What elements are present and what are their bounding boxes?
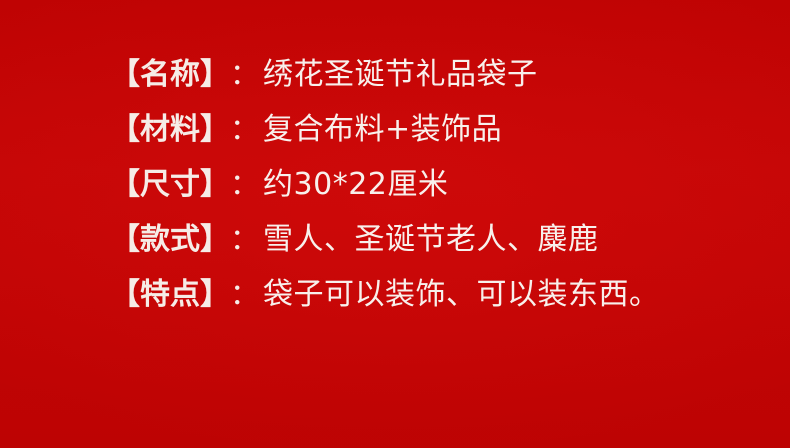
spec-row-material: 【材料】 ： 复合布料+装饰品 [110, 102, 750, 157]
spec-separator: ： [230, 102, 259, 157]
spec-separator: ： [230, 157, 259, 212]
spec-label: 【款式】 [110, 212, 230, 267]
product-spec-banner: 【名称】 ： 绣花圣诞节礼品袋子 【材料】 ： 复合布料+装饰品 【尺寸】 ： … [0, 0, 790, 448]
spec-value: 约30*22厘米 [263, 157, 448, 212]
spec-list: 【名称】 ： 绣花圣诞节礼品袋子 【材料】 ： 复合布料+装饰品 【尺寸】 ： … [110, 47, 750, 322]
spec-value: 袋子可以装饰、可以装东西。 [263, 267, 660, 322]
spec-label: 【特点】 [110, 267, 230, 322]
spec-value: 绣花圣诞节礼品袋子 [263, 47, 538, 102]
spec-label: 【名称】 [110, 47, 230, 102]
spec-row-feature: 【特点】 ： 袋子可以装饰、可以装东西。 [110, 267, 750, 322]
spec-row-style: 【款式】 ： 雪人、圣诞节老人、麋鹿 [110, 212, 750, 267]
spec-value: 雪人、圣诞节老人、麋鹿 [263, 212, 599, 267]
spec-label: 【尺寸】 [110, 157, 230, 212]
spec-label: 【材料】 [110, 102, 230, 157]
spec-row-name: 【名称】 ： 绣花圣诞节礼品袋子 [110, 47, 750, 102]
spec-row-size: 【尺寸】 ： 约30*22厘米 [110, 157, 750, 212]
spec-value: 复合布料+装饰品 [263, 102, 502, 157]
spec-separator: ： [230, 212, 259, 267]
spec-separator: ： [230, 267, 259, 322]
spec-separator: ： [230, 47, 259, 102]
